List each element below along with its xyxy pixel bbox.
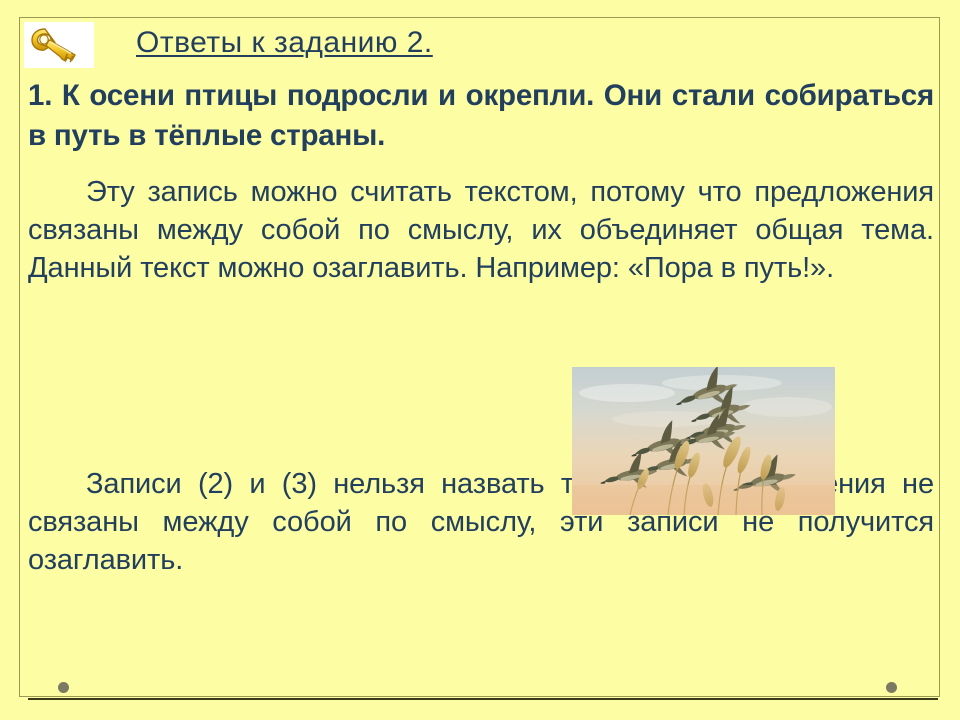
decorative-dot-right bbox=[886, 682, 897, 693]
answer-1-text: 1. К осени птицы подросли и окрепли. Они… bbox=[28, 76, 934, 156]
bottom-divider-rule bbox=[28, 698, 938, 700]
flying-ducks-illustration bbox=[572, 367, 835, 515]
key-icon-container bbox=[24, 22, 94, 68]
flying-ducks-illustration-svg bbox=[572, 367, 835, 515]
slide-header: Ответы к заданию 2. bbox=[24, 22, 904, 70]
explanation-paragraph-1: Эту запись можно считать текстом, потому… bbox=[28, 173, 934, 287]
decorative-dot-left bbox=[58, 682, 69, 693]
key-icon bbox=[29, 26, 89, 64]
page-title: Ответы к заданию 2. bbox=[136, 24, 433, 62]
